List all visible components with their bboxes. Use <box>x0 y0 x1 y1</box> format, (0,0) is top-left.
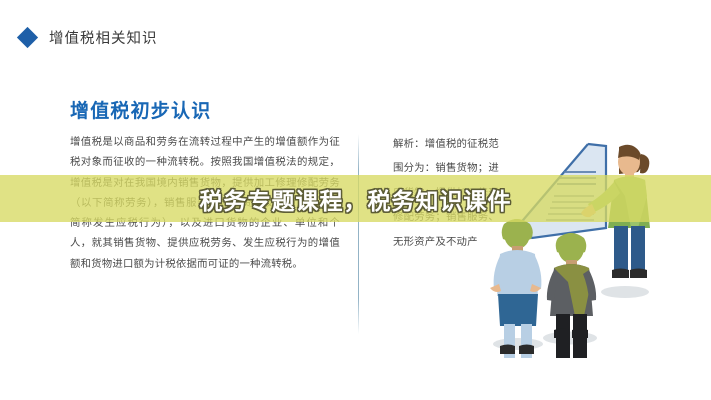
slide-title: 增值税初步认识 <box>70 96 211 123</box>
column-divider <box>358 134 359 334</box>
diamond-icon <box>17 26 38 47</box>
document-header: 增值税相关知识 <box>0 24 711 50</box>
watermark-text: 税务专题课程，税务知识课件 <box>0 175 711 222</box>
student-blue <box>490 219 541 358</box>
slide-page: 增值税相关知识 增值税初步认识 增值税是以商品和劳务在流转过程中产生的增值额作为… <box>0 0 711 400</box>
document-header-title: 增值税相关知识 <box>49 27 158 48</box>
presentation-classroom-illustration <box>488 120 663 358</box>
